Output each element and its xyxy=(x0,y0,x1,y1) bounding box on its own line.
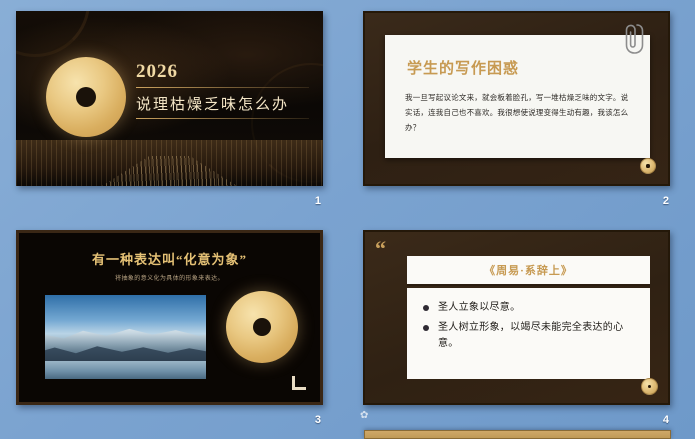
divider-bottom xyxy=(136,118,309,119)
gold-medallion-icon xyxy=(226,291,298,363)
list-item: 圣人立象以尽意。 xyxy=(423,300,636,317)
quote-icon: “ xyxy=(375,238,386,260)
gold-coin-icon xyxy=(641,378,658,395)
slide-number-2: 2 xyxy=(663,195,669,207)
slide-thumbnail-4[interactable]: “ 《周易·系辞上》 圣人立象以尽意。 圣人树立形象，以竭尽未能完全表达的心意。 xyxy=(363,230,670,405)
slide2-title: 学生的写作困惑 xyxy=(407,57,634,78)
next-slide-partial-edge[interactable] xyxy=(364,430,671,439)
quote-body-panel: 圣人立象以尽意。 圣人树立形象，以竭尽未能完全表达的心意。 xyxy=(407,288,650,379)
bullet-text: 圣人立象以尽意。 xyxy=(438,302,520,313)
slide3-subtitle: 将抽象的意义化为具体的形象来表达。 xyxy=(19,273,320,282)
cover-title-block: 2026 说理枯燥乏味怎么办 xyxy=(136,61,309,124)
bullet-dot-icon xyxy=(423,325,429,331)
floor-reflection-decoration xyxy=(16,140,323,186)
slide-thumbnail-3[interactable]: 有一种表达叫“化意为象” 将抽象的意义化为具体的形象来表达。 xyxy=(16,230,323,405)
gold-medallion-icon xyxy=(46,57,126,137)
quote-bullet-list: 圣人立象以尽意。 圣人树立形象，以竭尽未能完全表达的心意。 xyxy=(423,300,636,353)
slide3-title: 有一种表达叫“化意为象” xyxy=(19,249,320,268)
slide-cell-1: 2026 说理枯燥乏味怎么办 1 xyxy=(0,0,347,219)
paperclip-icon xyxy=(622,21,644,55)
divider-top xyxy=(136,87,309,88)
slide2-body-text: 我一旦写起议论文来，就会板着脸孔，写一堆枯燥乏味的文字。说实话，连我自己也不喜欢… xyxy=(405,90,632,135)
slide-thumbnail-2[interactable]: 学生的写作困惑 我一旦写起议论文来，就会板着脸孔，写一堆枯燥乏味的文字。说实话，… xyxy=(363,11,670,186)
quote-source-text: 《周易·系辞上》 xyxy=(484,262,573,278)
decoration-glyph-icon: ✿ xyxy=(360,410,371,421)
arc-decoration-top-left-icon xyxy=(16,11,90,57)
snow-ridge-shape xyxy=(45,322,206,354)
slide-thumbnail-grid: 2026 说理枯燥乏味怎么办 1 学生的写作困惑 我一旦写起议论文来，就会板着脸… xyxy=(0,0,695,439)
slide-cell-2: 学生的写作困惑 我一旦写起议论文来，就会板着脸孔，写一堆枯燥乏味的文字。说实话，… xyxy=(347,0,695,219)
lake-water-shape xyxy=(45,361,206,379)
corner-bracket-icon xyxy=(292,376,306,390)
cover-year: 2026 xyxy=(136,61,309,83)
quote-source-header: 《周易·系辞上》 xyxy=(407,256,650,286)
cover-title: 说理枯燥乏味怎么办 xyxy=(136,93,309,114)
gold-coin-icon xyxy=(640,158,656,174)
slide-number-1: 1 xyxy=(315,195,321,207)
slide-thumbnail-1[interactable]: 2026 说理枯燥乏味怎么办 xyxy=(16,11,323,186)
white-card-panel: 学生的写作困惑 我一旦写起议论文来，就会板着脸孔，写一堆枯燥乏味的文字。说实话，… xyxy=(385,35,650,158)
slide3-header: 有一种表达叫“化意为象” 将抽象的意义化为具体的形象来表达。 xyxy=(19,233,320,282)
slide-number-3: 3 xyxy=(315,414,321,426)
slide-number-4: 4 xyxy=(663,414,669,426)
slide-cell-3: 有一种表达叫“化意为象” 将抽象的意义化为具体的形象来表达。 3 xyxy=(0,219,347,438)
landscape-photo xyxy=(45,295,206,379)
bullet-text: 圣人树立形象，以竭尽未能完全表达的心意。 xyxy=(438,322,623,350)
slide-cell-4: “ 《周易·系辞上》 圣人立象以尽意。 圣人树立形象，以竭尽未能完全表达的心意。 xyxy=(347,219,695,438)
bullet-dot-icon xyxy=(423,305,429,311)
list-item: 圣人树立形象，以竭尽未能完全表达的心意。 xyxy=(423,320,636,353)
